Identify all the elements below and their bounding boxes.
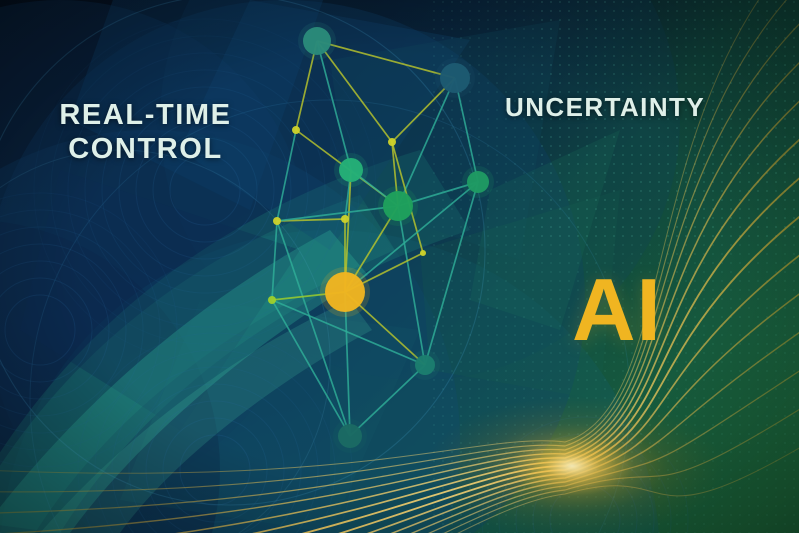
network-nodes — [268, 22, 494, 453]
network-graph — [0, 0, 799, 533]
network-node-junction-d — [341, 215, 349, 223]
network-node-bottom-node — [338, 424, 362, 448]
network-node-junction-a — [292, 126, 300, 134]
label-ai: AI — [572, 259, 662, 361]
network-edge — [277, 130, 296, 221]
banner-canvas: REAL-TIME CONTROL UNCERTAINTY AI — [0, 0, 799, 533]
network-node-top-node — [303, 27, 331, 55]
network-node-junction-e — [268, 296, 276, 304]
network-node-junction-c — [273, 217, 281, 225]
network-node-upper-right-node — [440, 63, 470, 93]
network-node-central-hub-node — [325, 272, 365, 312]
network-node-right-green-node — [467, 171, 489, 193]
network-node-mid-left-node — [339, 158, 363, 182]
network-edge — [398, 78, 455, 206]
network-node-center-green-node — [383, 191, 413, 221]
network-node-junction-f — [420, 250, 426, 256]
label-uncertainty: UNCERTAINTY — [505, 92, 705, 123]
network-edge — [272, 221, 277, 300]
network-edges — [272, 41, 478, 436]
network-edge — [317, 41, 351, 170]
network-edge — [317, 41, 455, 78]
network-node-lower-right-node — [415, 355, 435, 375]
label-real-time-control: REAL-TIME CONTROL — [38, 98, 253, 166]
network-node-junction-b — [388, 138, 396, 146]
network-edge — [425, 182, 478, 365]
